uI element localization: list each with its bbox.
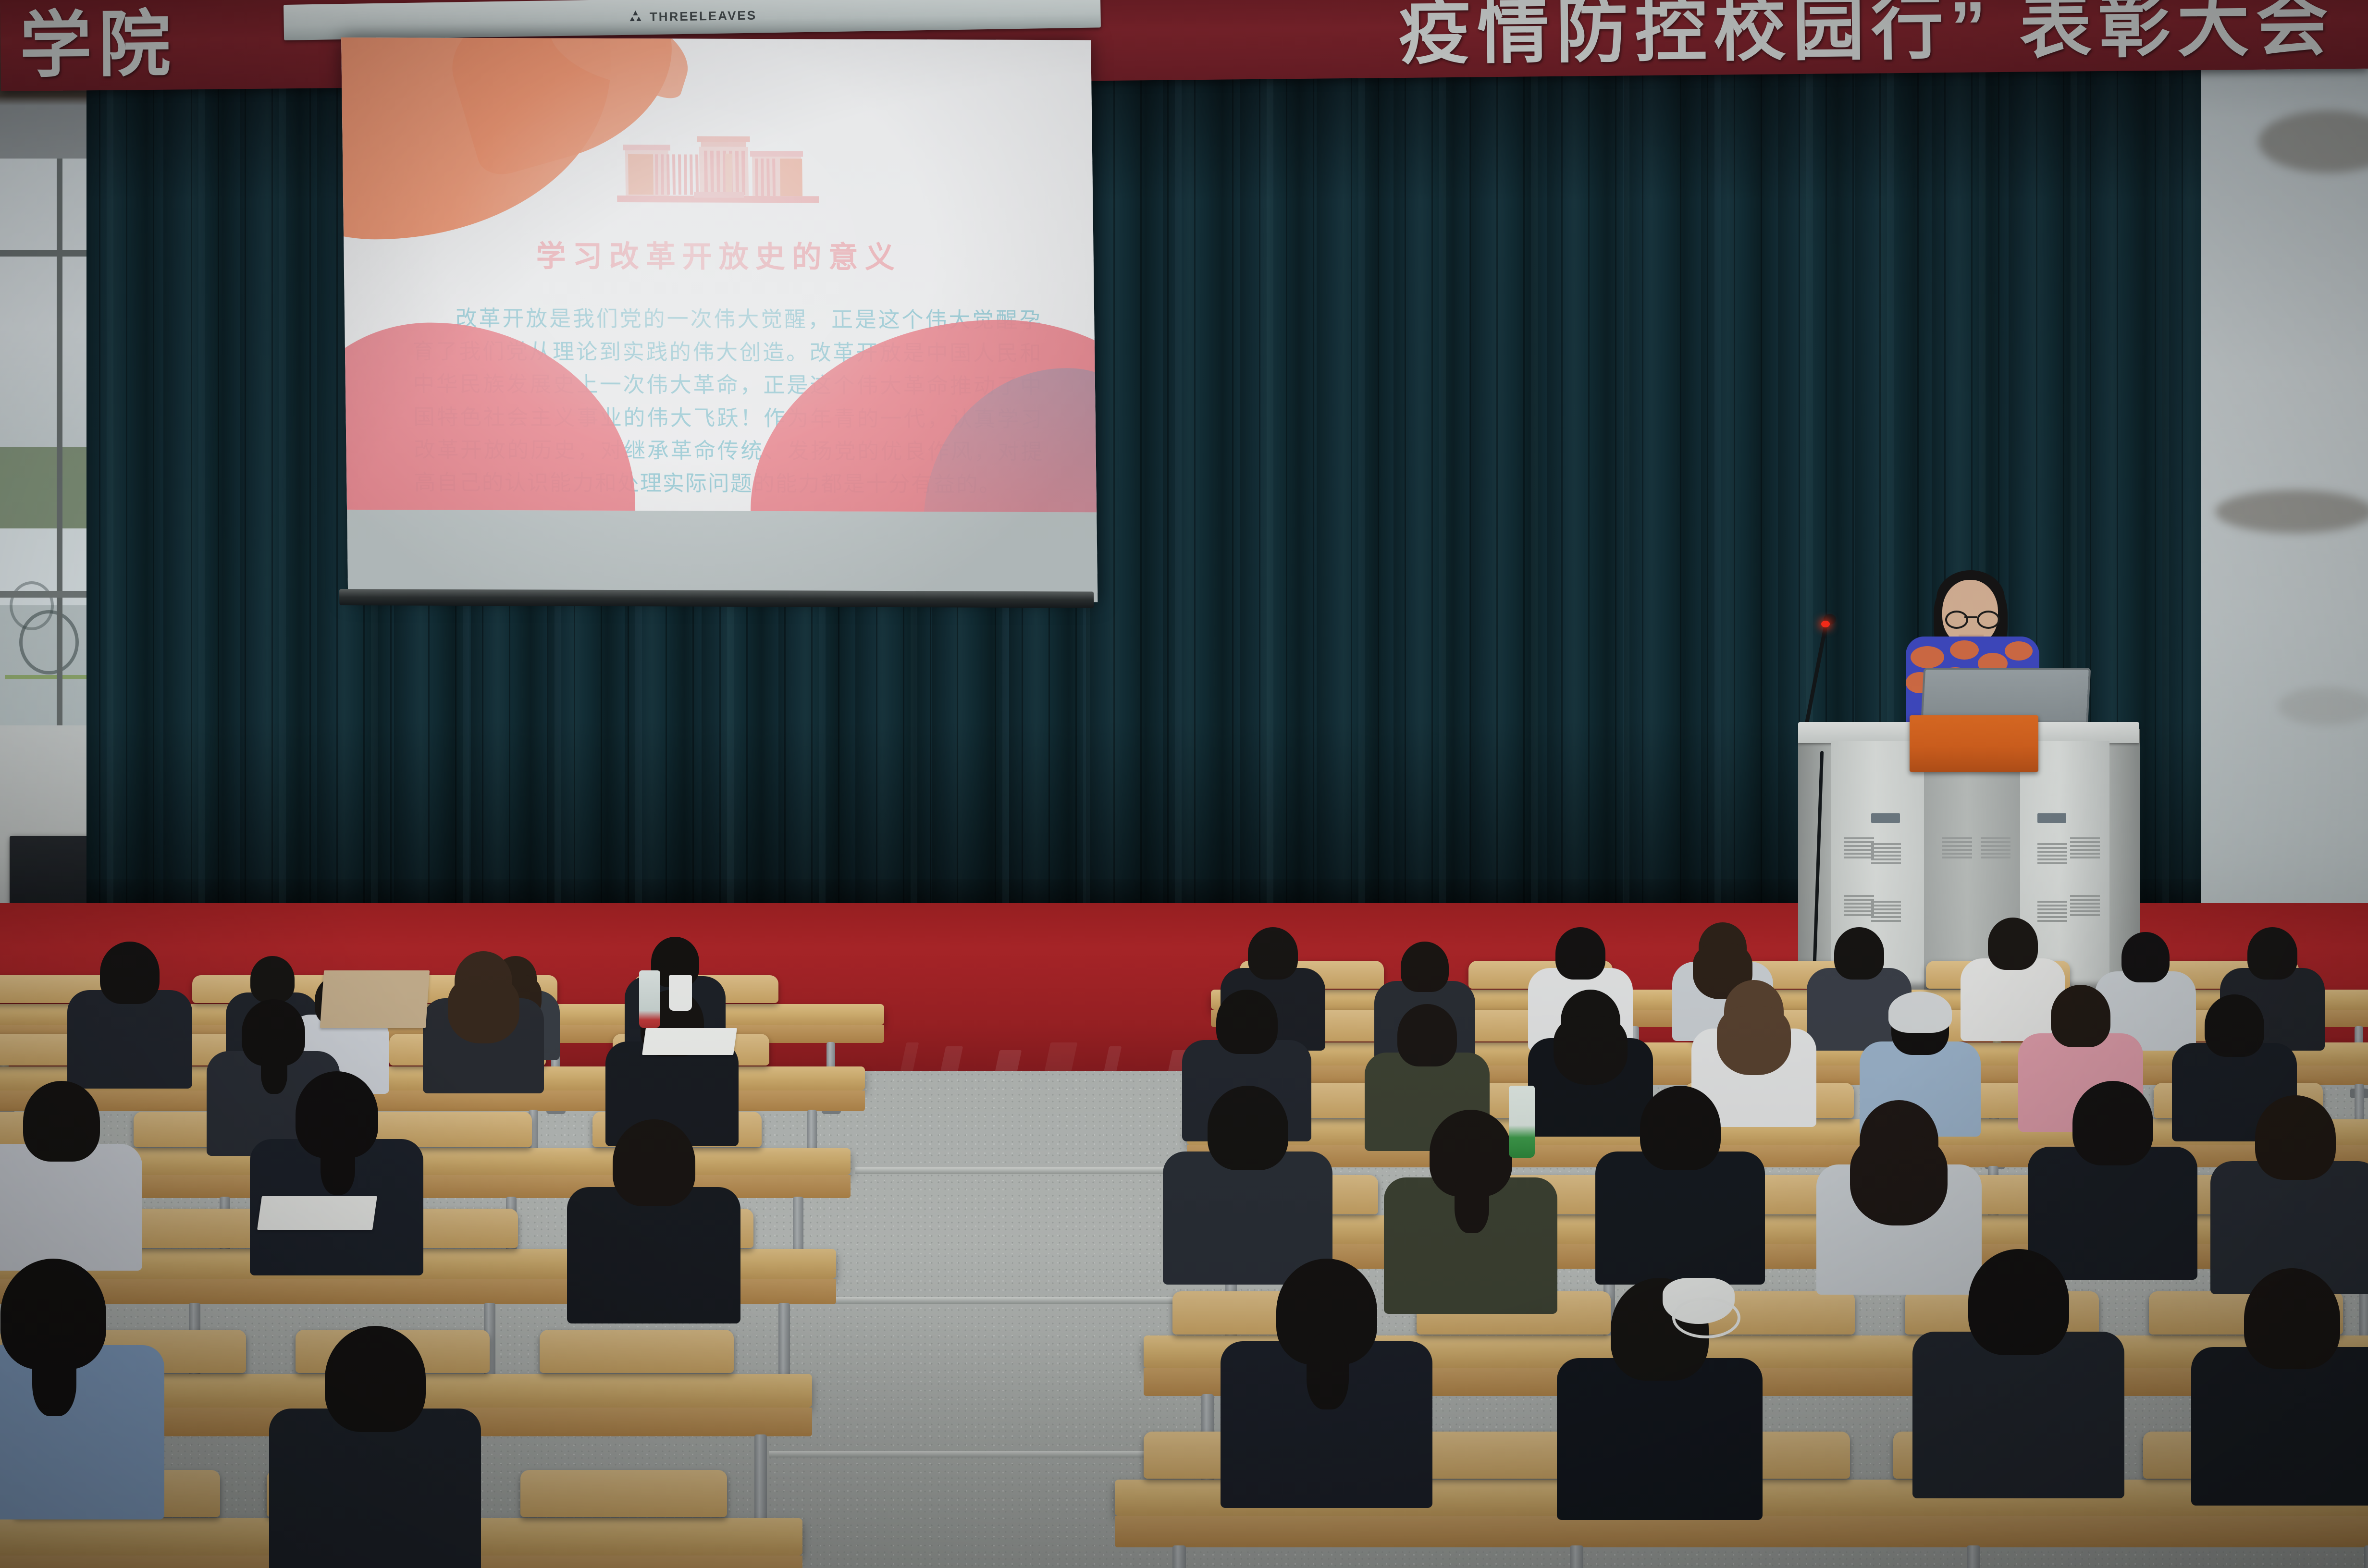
curtain-highlight <box>1439 0 1446 913</box>
audience-long-hair <box>1554 1016 1628 1085</box>
jacket-pattern-blob <box>1911 646 1944 668</box>
curtain-highlight <box>279 0 286 913</box>
curtain-highlight <box>1531 0 1538 913</box>
curtain-fold <box>309 0 311 913</box>
audience-head <box>2205 994 2264 1057</box>
audience-torso <box>567 1187 740 1323</box>
audience-torso <box>0 1144 142 1271</box>
slide-title: 学习改革开放史的意义 <box>344 231 1094 277</box>
curtain-highlight <box>1358 0 1365 913</box>
jacket-pattern-blob <box>1950 640 1979 660</box>
three-leaves-logo-icon <box>628 9 644 25</box>
audience-member <box>423 951 544 1107</box>
curtain-fold <box>1194 0 1196 913</box>
curtain-highlight <box>198 0 205 913</box>
curtain-highlight <box>1714 0 1721 913</box>
curtain-fold <box>191 0 192 913</box>
curtain-fold <box>99 0 100 913</box>
curtain-fold <box>218 0 219 913</box>
curtain-fold <box>2155 0 2156 913</box>
audience-member <box>0 1259 164 1544</box>
curtain-fold <box>1431 0 1433 913</box>
tiananmen-gate-icon <box>616 133 819 206</box>
jacket-pattern-blob <box>2005 641 2033 661</box>
audience-head <box>325 1326 426 1432</box>
curtain-fold <box>1496 0 1498 913</box>
audience-member <box>0 1081 142 1288</box>
banner-text-left: 学院 <box>19 8 177 81</box>
audience-torso <box>269 1409 481 1568</box>
desk-leg <box>1172 1545 1186 1568</box>
presentation-slide: 学习改革开放史的意义 改革开放是我们党的一次伟大觉醒，正是这个伟大觉醒孕育了我们… <box>341 37 1097 512</box>
projector-brand: THREELEAVES <box>628 7 757 25</box>
curtain-fold <box>245 0 246 913</box>
audience-head <box>613 1119 695 1206</box>
water-bottle-green <box>1509 1086 1535 1158</box>
curtain-fold <box>1642 0 1643 913</box>
audience-member <box>250 1071 423 1295</box>
curtain-highlight <box>1175 0 1182 913</box>
curtain-fold <box>1615 0 1616 913</box>
curtain-fold <box>271 0 273 913</box>
water-bottle-clear <box>639 970 660 1028</box>
curtain-fold <box>1561 0 1563 913</box>
audience-head <box>1640 1086 1721 1170</box>
paper-sheet <box>642 1028 737 1055</box>
standing-card <box>320 970 430 1028</box>
paper-sheet <box>257 1196 377 1230</box>
audience-ponytail <box>321 1132 355 1195</box>
audience-head <box>1988 918 2038 970</box>
audience-ponytail <box>1455 1171 1489 1233</box>
audience-head <box>1834 927 1884 980</box>
curtain-fold <box>1113 0 1115 913</box>
audience-head <box>2051 985 2110 1047</box>
microphone-led-indicator <box>1821 621 1830 627</box>
audience-head <box>2255 1095 2336 1180</box>
audience-head <box>1968 1249 2069 1355</box>
audience-head <box>100 942 160 1004</box>
glasses-icon <box>1945 611 1996 625</box>
podium-accent-panel <box>1910 715 2038 772</box>
audience-member <box>2191 1268 2368 1528</box>
curtain-highlight <box>2162 0 2169 913</box>
curtain-fold <box>336 0 338 913</box>
curtain-fold <box>1286 0 1287 913</box>
audience-head <box>1401 942 1449 992</box>
right-wall <box>2186 0 2368 985</box>
curtain-fold <box>1167 0 1169 913</box>
curtain-fold <box>1761 0 1762 913</box>
curtain-highlight <box>1267 0 1273 913</box>
curtain-fold <box>1734 0 1735 913</box>
projection-screen: 学习改革开放史的意义 改革开放是我们党的一次伟大觉醒，正是这个伟大觉醒孕育了我们… <box>341 37 1098 602</box>
curtain-fold <box>1259 0 1260 913</box>
window-mullion-vertical <box>57 159 62 725</box>
curtain-fold <box>1588 0 1590 913</box>
curtain-fold <box>126 0 127 913</box>
desk-leg <box>2364 1545 2368 1568</box>
curtain-fold <box>1378 0 1379 913</box>
curtain-fold <box>153 0 154 913</box>
audience-ponytail <box>1307 1333 1349 1409</box>
curtain-fold <box>1523 0 1525 913</box>
audience-head <box>2244 1268 2340 1369</box>
window-outside-hoop <box>19 610 79 674</box>
audience-long-hair <box>1850 1135 1948 1225</box>
curtain-highlight <box>1623 0 1629 913</box>
white-charger-cable <box>1672 1297 1740 1338</box>
audience-member <box>567 1119 740 1343</box>
slide-letterbox: 学习改革开放史的意义 改革开放是我们党的一次伟大觉醒，正是这个伟大觉醒孕育了我们… <box>341 37 1098 602</box>
audience-head <box>1216 990 1278 1054</box>
audience-member <box>1595 1086 1765 1303</box>
audience-member <box>67 942 192 1102</box>
desk-leg <box>1967 1545 1980 1568</box>
audience-member <box>1912 1249 2124 1522</box>
audience-cap-icon <box>1888 992 1952 1033</box>
curtain-fold <box>1469 0 1471 913</box>
projector-screen-weight-bar <box>339 589 1094 608</box>
audience-torso <box>67 990 192 1089</box>
audience-long-hair <box>448 977 519 1043</box>
projector-brand-label: THREELEAVES <box>650 8 757 24</box>
audience-head <box>2072 1081 2153 1165</box>
audience-head <box>1555 927 1605 980</box>
curtain-fold <box>1707 0 1708 913</box>
curtain-fold <box>1313 0 1314 913</box>
lecture-chair-back <box>520 1470 727 1517</box>
audience-torso <box>1557 1358 1763 1520</box>
curtain-fold <box>2182 0 2183 913</box>
audience-member <box>1221 1259 1432 1531</box>
paper-cup <box>669 975 692 1011</box>
lecture-hall-scene: 学院 疫情防控校园行” 表彰大会 THREELEAVES <box>0 0 2368 1568</box>
audience-head <box>2247 927 2297 980</box>
audience-ponytail <box>32 1336 76 1416</box>
audience-head <box>1397 1004 1457 1066</box>
audience-long-hair <box>1717 1006 1791 1075</box>
desk-leg <box>1570 1545 1583 1568</box>
curtain-fold <box>1405 0 1406 913</box>
curtain-fold <box>1232 0 1233 913</box>
audience-head <box>23 1081 100 1162</box>
curtain-fold <box>1351 0 1352 913</box>
audience-torso <box>2191 1347 2368 1506</box>
audience-torso <box>1912 1332 2124 1498</box>
audience-torso <box>0 1345 164 1519</box>
audience-head <box>1208 1086 1288 1170</box>
curtain-highlight <box>107 0 113 913</box>
audience-torso <box>1595 1151 1765 1285</box>
curtain-fold <box>1680 0 1681 913</box>
audience-head <box>1248 927 1298 980</box>
audience-member <box>269 1326 481 1568</box>
curtain-fold <box>1140 0 1142 913</box>
banner-text-right: 疫情防控校园行” 表彰大会 <box>1398 0 2335 68</box>
audience-head <box>2121 932 2170 982</box>
